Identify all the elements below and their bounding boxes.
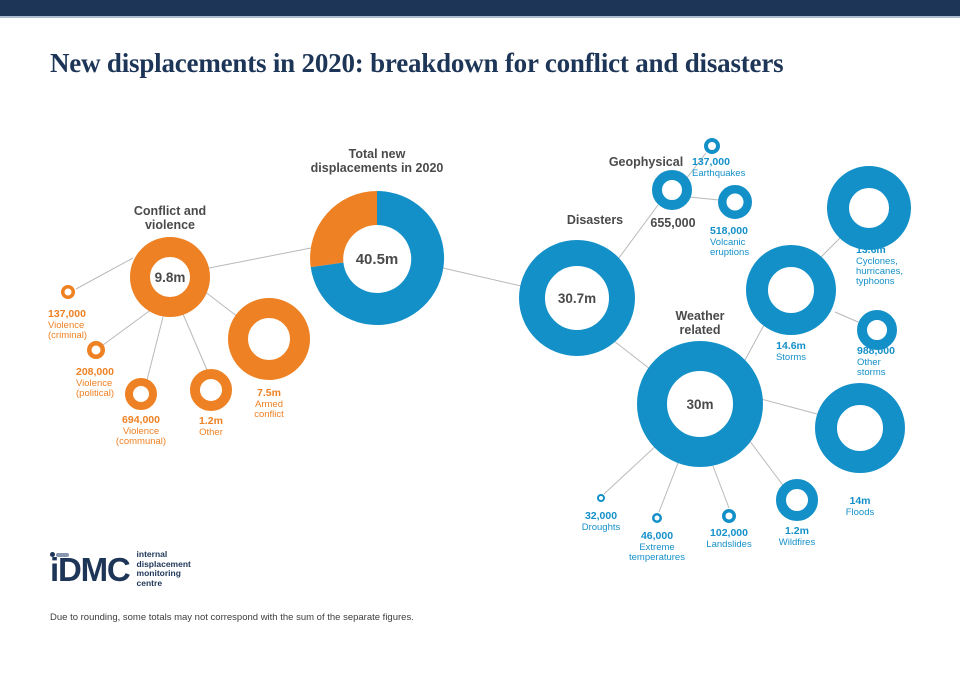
other-storms-value: 988,000 — [857, 345, 895, 357]
logo-tagline-line2: displacement — [137, 559, 191, 569]
floods-value: 14m — [849, 495, 870, 507]
donut-violence-political: 208,000 Violence (political) — [76, 343, 114, 399]
logo-tagline-line4: centre — [137, 578, 163, 588]
earthquakes-value: 137,000 — [692, 156, 730, 168]
donut-cyclones-hurricanes-typhoons: 13.6m Cyclones, hurricanes, typhoons — [838, 177, 903, 287]
logo-dot-icon — [50, 552, 55, 557]
logo-dash-icon — [56, 553, 69, 557]
total-value-label: 40.5m — [356, 251, 399, 268]
other-conflict-name-l1: Other — [199, 427, 223, 438]
wildfires-name-l1: Wildfires — [779, 537, 816, 548]
donut-other-storms: 988,000 Other storms — [857, 315, 895, 378]
footnote: Due to rounding, some totals may not cor… — [50, 612, 414, 623]
donut-landslides: 102,000 Landslides — [706, 511, 752, 550]
donut-total: 40.5m — [310, 191, 444, 325]
cyclones-value: 13.6m — [856, 244, 886, 256]
donut-conflict-and-violence: 9.8m — [140, 247, 200, 307]
weather-value-label: 30m — [686, 397, 713, 412]
violence-communal-name-l2: (communal) — [116, 436, 166, 447]
conflict-title-line2: violence — [145, 218, 195, 232]
armed-conflict-value: 7.5m — [257, 387, 281, 399]
donut-extreme-temperatures: 46,000 Extreme temperatures — [629, 514, 685, 563]
donut-geophysical — [657, 175, 687, 205]
disasters-value-label: 30.7m — [558, 291, 596, 306]
logo-tagline-line1: internal — [137, 549, 168, 559]
earthquakes-name-l1: Earthquakes — [692, 168, 746, 179]
logo-wordmark: iDMC — [50, 553, 130, 586]
extreme-temperatures-value: 46,000 — [641, 530, 673, 542]
landslides-name-l1: Landslides — [706, 539, 752, 550]
extreme-temperatures-name-l2: temperatures — [629, 552, 685, 563]
violence-political-name-l2: (political) — [76, 388, 114, 399]
donut-violence-criminal: 137,000 Violence (criminal) — [48, 287, 87, 341]
weather-title-line2: related — [680, 323, 721, 337]
violence-criminal-name-l2: (criminal) — [48, 330, 87, 341]
total-title-line2: displacements in 2020 — [311, 161, 444, 175]
conflict-value-label: 9.8m — [155, 270, 186, 285]
violence-criminal-value: 137,000 — [48, 308, 86, 320]
violence-communal-value: 694,000 — [122, 414, 160, 426]
donut-wildfires: 1.2m Wildfires — [779, 484, 816, 548]
donut-earthquakes: 137,000 Earthquakes — [692, 140, 746, 179]
logo-tagline: internaldisplacementmonitoringcentre — [137, 550, 191, 588]
volcanic-eruptions-value: 518,000 — [710, 225, 748, 237]
idmc-logo: iDMC internaldisplacementmonitoringcentr… — [50, 550, 191, 588]
weather-title-line1: Weather — [675, 309, 724, 323]
wildfires-value: 1.2m — [785, 525, 809, 537]
geophysical-value-label: 655,000 — [650, 216, 695, 230]
volcanic-eruptions-name-l2: eruptions — [710, 247, 749, 258]
donut-storms: 14.6m Storms — [757, 256, 825, 363]
storms-value: 14.6m — [776, 340, 806, 352]
armed-conflict-name-l2: conflict — [254, 409, 284, 420]
conflict-title-line1: Conflict and — [134, 204, 206, 218]
storms-name-l1: Storms — [776, 352, 806, 363]
cyclones-name-l3: typhoons — [856, 276, 895, 287]
other-conflict-value: 1.2m — [199, 415, 223, 427]
donut-armed-conflict: 7.5m Armed conflict — [238, 308, 300, 420]
landslides-value: 102,000 — [710, 527, 748, 539]
droughts-name-l1: Droughts — [582, 522, 621, 533]
floods-name-l1: Floods — [846, 507, 875, 518]
logo-tagline-line3: monitoring — [137, 568, 181, 578]
disasters-title: Disasters — [567, 213, 623, 227]
donut-floods: 14m Floods — [826, 394, 894, 518]
geophysical-title: Geophysical — [609, 155, 683, 169]
donut-other-conflict: 1.2m Other — [195, 374, 227, 438]
droughts-value: 32,000 — [585, 510, 617, 522]
donut-weather-related: 30m — [652, 356, 748, 452]
infographic-page: New displacements in 2020: breakdown for… — [0, 0, 960, 678]
donut-droughts: 32,000 Droughts — [582, 495, 621, 533]
total-title-line1: Total new — [349, 147, 406, 161]
donut-disasters: 30.7m — [532, 253, 622, 343]
other-storms-name-l2: storms — [857, 367, 886, 378]
violence-political-value: 208,000 — [76, 366, 114, 378]
donut-violence-communal: 694,000 Violence (communal) — [116, 382, 166, 447]
